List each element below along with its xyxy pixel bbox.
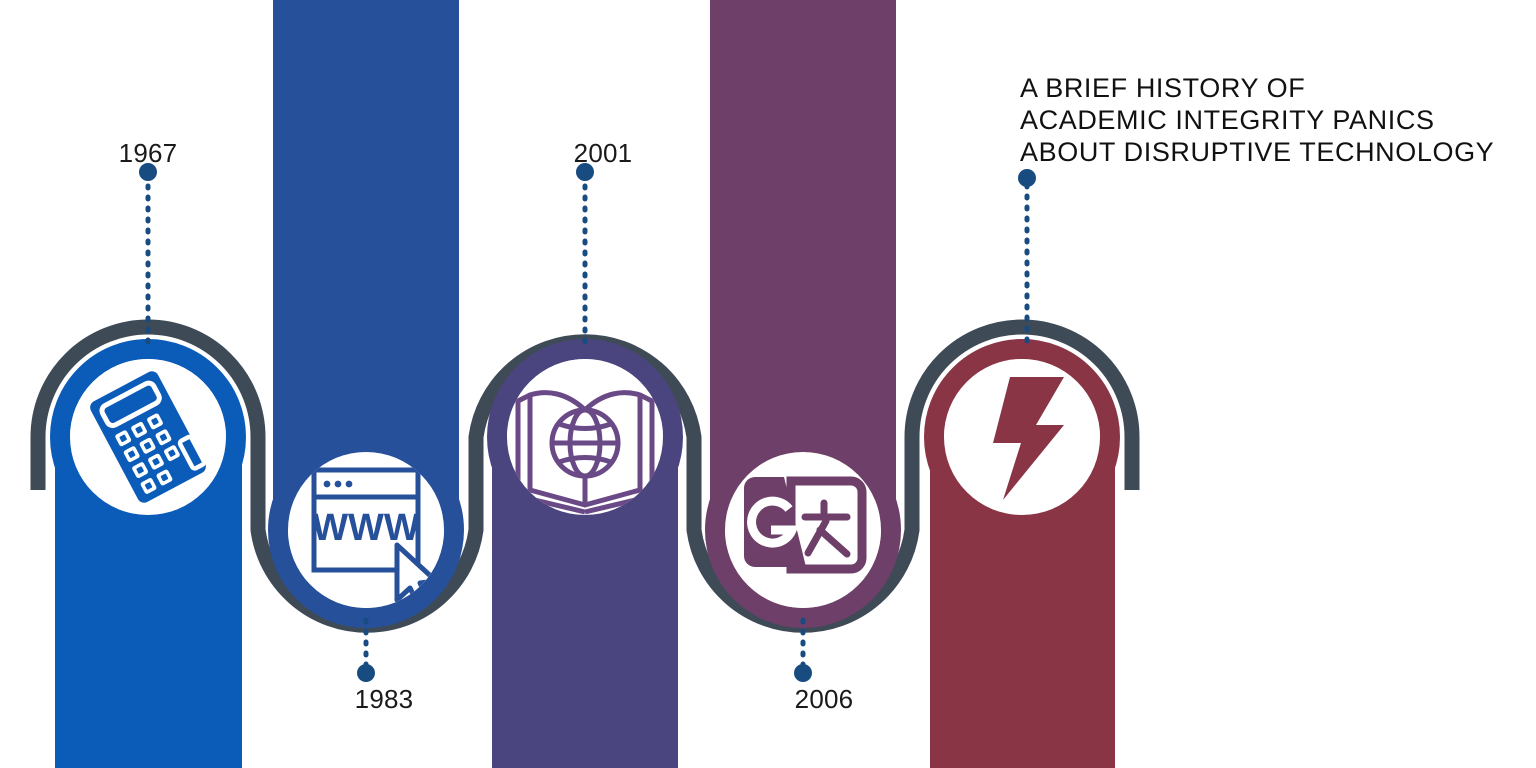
year-label-2001: 2001 — [574, 138, 633, 169]
title-line-1: A BRIEF HISTORY OF — [1020, 72, 1494, 104]
marker-2001 — [576, 163, 594, 350]
infographic-canvas: WWW — [0, 0, 1536, 768]
marker-dot-ai — [1018, 169, 1036, 187]
marker-dot-2006 — [794, 664, 812, 682]
year-label-1983: 1983 — [355, 684, 414, 715]
milestone-ai[interactable] — [934, 349, 1110, 525]
year-label-2006: 2006 — [795, 684, 854, 715]
page-title: A BRIEF HISTORY OF ACADEMIC INTEGRITY PA… — [1020, 72, 1494, 168]
www-text: WWW — [312, 507, 420, 549]
milestone-1967[interactable] — [60, 349, 236, 525]
milestone-2001[interactable] — [497, 349, 673, 525]
title-line-3: ABOUT DISRUPTIVE TECHNOLOGY — [1020, 136, 1494, 168]
milestone-2006[interactable] — [715, 442, 891, 618]
year-label-1967: 1967 — [119, 138, 178, 169]
marker-dot-1983 — [357, 664, 375, 682]
milestone-1983[interactable]: WWW — [278, 442, 454, 618]
title-line-2: ACADEMIC INTEGRITY PANICS — [1020, 104, 1494, 136]
